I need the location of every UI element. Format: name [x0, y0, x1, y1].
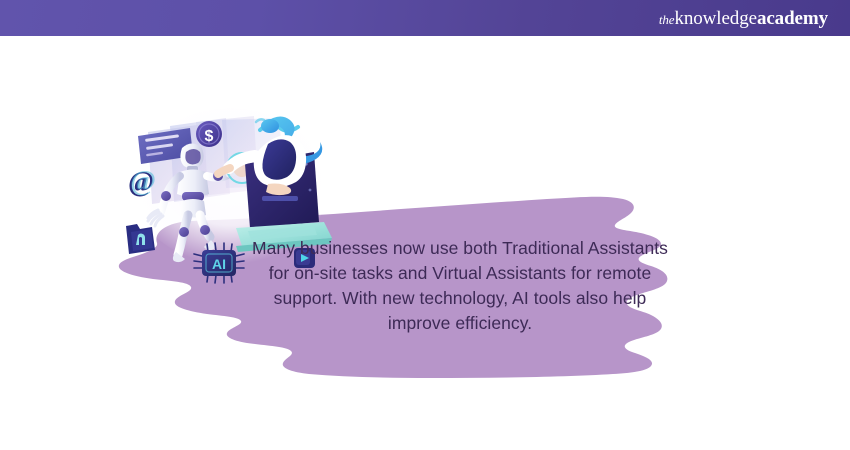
- brand-logo-knowledge: knowledge: [674, 8, 756, 29]
- banner-caption: Many businesses now use both Traditional…: [245, 236, 675, 336]
- svg-text:AI: AI: [212, 256, 226, 272]
- content-stage: @ @ $: [0, 36, 850, 450]
- at-symbol-icon: @ @: [128, 166, 156, 198]
- brand-logo-academy: academy: [757, 8, 828, 29]
- banner-caption-text: Many businesses now use both Traditional…: [245, 236, 675, 336]
- svg-text:@: @: [130, 166, 156, 197]
- brand-logo-the: the: [659, 12, 675, 27]
- brand-logo[interactable]: theknowledgeacademy: [659, 9, 828, 28]
- dollar-coin-icon: $: [196, 121, 222, 147]
- header-bar: theknowledgeacademy: [0, 0, 850, 36]
- folder-icon: [126, 224, 155, 254]
- svg-text:$: $: [205, 128, 214, 145]
